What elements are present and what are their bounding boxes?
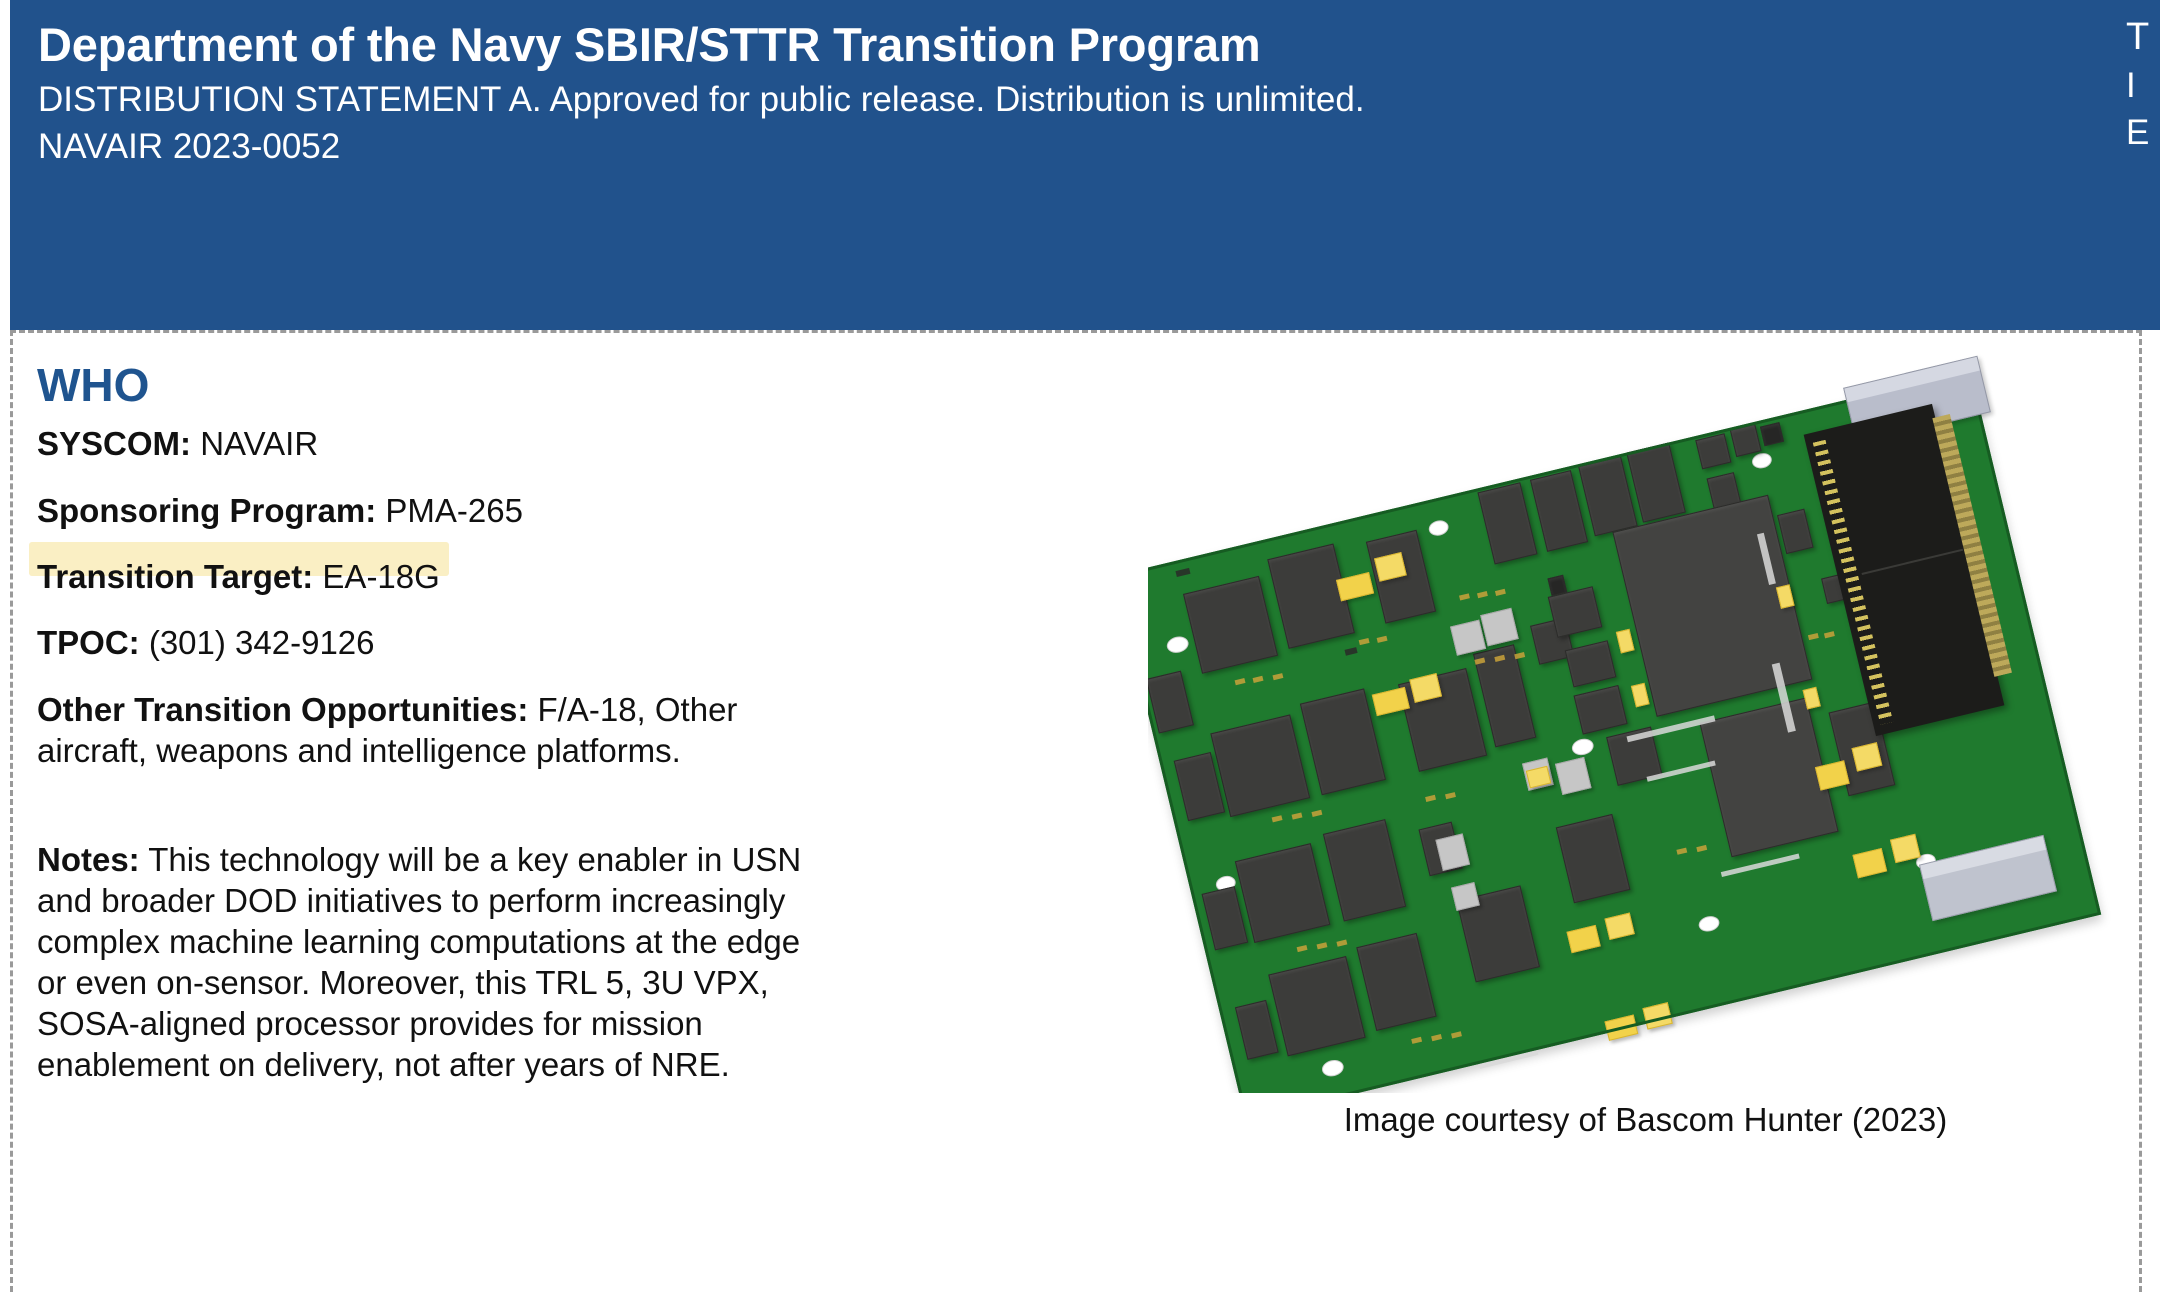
- header-banner: Department of the Navy SBIR/STTR Transit…: [10, 0, 2160, 330]
- ic-chip: [1210, 714, 1310, 817]
- capacitor: [1642, 1002, 1672, 1029]
- figure-caption: Image courtesy of Bascom Hunter (2023): [1148, 1101, 2143, 1139]
- mounting-hole: [1320, 1058, 1345, 1079]
- mounting-hole: [1165, 634, 1190, 655]
- capacitor: [1566, 925, 1600, 953]
- capacitor: [1815, 760, 1850, 790]
- capacitor: [1631, 683, 1650, 708]
- smd-component: [1450, 620, 1486, 656]
- ic-chip: [1565, 640, 1617, 687]
- field-sponsoring-program-label: Sponsoring Program:: [37, 492, 376, 529]
- field-transition-target-value: EA-18G: [322, 558, 439, 595]
- ic-chip: [1148, 671, 1194, 734]
- clipped-line-2: I: [2126, 63, 2160, 110]
- field-sponsoring-program: Sponsoring Program: PMA-265: [37, 492, 1147, 530]
- ic-chip: [1695, 433, 1731, 469]
- who-section: WHO SYSCOM: NAVAIR Sponsoring Program: P…: [37, 361, 1147, 1086]
- clipped-line-3: E: [2126, 110, 2160, 157]
- ic-chip: [1235, 1000, 1279, 1060]
- ic-chip: [1477, 482, 1537, 564]
- circuit-board-image: [1148, 353, 2143, 1093]
- ic-chip: [1626, 442, 1686, 522]
- field-tpoc-value: (301) 342-9126: [149, 624, 375, 661]
- clipped-line-1: T: [2126, 12, 2160, 63]
- smd-component: [1435, 833, 1470, 871]
- field-other-transition-opportunities: Other Transition Opportunities: F/A-18, …: [37, 690, 827, 772]
- field-syscom-value: NAVAIR: [200, 425, 318, 462]
- mounting-hole: [1427, 518, 1450, 537]
- document-number: NAVAIR 2023-0052: [38, 124, 2160, 171]
- ic-chip: [1323, 819, 1406, 921]
- field-syscom: SYSCOM: NAVAIR: [37, 425, 1147, 463]
- capacitor: [1604, 1014, 1638, 1040]
- ic-chip: [1556, 814, 1631, 903]
- slide-page: Department of the Navy SBIR/STTR Transit…: [0, 0, 2160, 1292]
- ic-chip: [1548, 586, 1603, 638]
- ic-chip: [1730, 424, 1762, 457]
- content-frame: WHO SYSCOM: NAVAIR Sponsoring Program: P…: [10, 330, 2142, 1292]
- field-other-opportunities-label: Other Transition Opportunities:: [37, 691, 528, 728]
- capacitor: [1604, 913, 1634, 940]
- field-transition-target: Transition Target: EA-18G: [37, 558, 1147, 596]
- ic-chip: [1356, 933, 1436, 1031]
- field-transition-target-label: Transition Target:: [37, 558, 313, 595]
- mounting-hole: [1570, 737, 1595, 758]
- ic-chip: [1760, 422, 1784, 446]
- section-heading-who: WHO: [37, 361, 1147, 409]
- ic-chip: [1578, 456, 1638, 536]
- ic-chip: [1777, 509, 1814, 554]
- right-margin-strip: [2142, 330, 2160, 1292]
- figure-panel: Image courtesy of Bascom Hunter (2023): [1148, 353, 2143, 1253]
- capacitor: [1336, 572, 1374, 601]
- ic-chip: [1183, 576, 1278, 674]
- smd-component: [1555, 757, 1592, 795]
- mounting-hole: [1750, 451, 1773, 470]
- mounting-hole: [1697, 914, 1721, 933]
- ic-chip: [1574, 685, 1628, 735]
- connector-seam: [1862, 549, 1964, 575]
- smd-component: [1480, 608, 1519, 647]
- field-sponsoring-program-value: PMA-265: [385, 492, 523, 529]
- field-notes: Notes: This technology will be a key ena…: [37, 840, 837, 1085]
- ic-chip: [1235, 843, 1330, 943]
- ic-chip: [1202, 886, 1249, 950]
- field-syscom-label: SYSCOM:: [37, 425, 191, 462]
- field-notes-value: This technology will be a key enabler in…: [37, 841, 801, 1083]
- capacitor: [1616, 629, 1635, 654]
- field-tpoc: TPOC: (301) 342-9126: [37, 624, 1147, 662]
- ic-chip: [1530, 470, 1588, 552]
- field-notes-label: Notes:: [37, 841, 140, 878]
- distribution-statement: DISTRIBUTION STATEMENT A. Approved for p…: [38, 77, 2160, 124]
- page-title: Department of the Navy SBIR/STTR Transit…: [38, 16, 2160, 73]
- ic-chip: [1268, 956, 1365, 1056]
- capacitor: [1852, 848, 1887, 878]
- header-clipped-right-column: T I E: [2126, 8, 2160, 208]
- field-tpoc-label: TPOC:: [37, 624, 140, 661]
